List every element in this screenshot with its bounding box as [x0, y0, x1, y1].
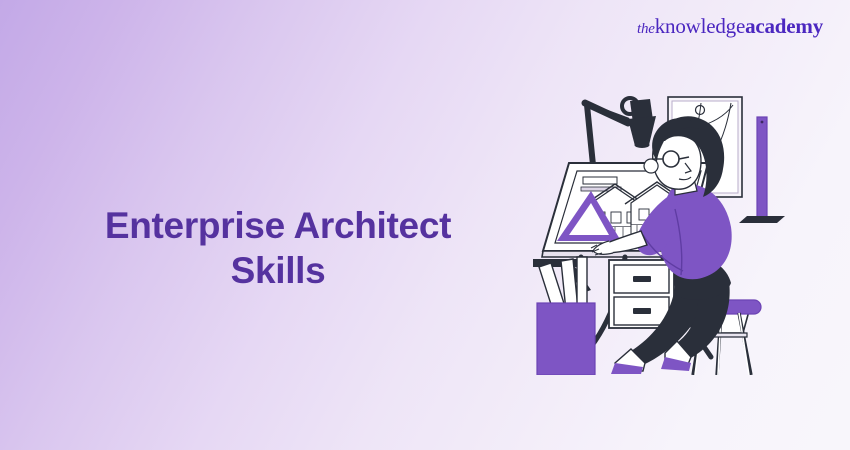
- purple-ruler-icon: [739, 117, 785, 223]
- brand-logo[interactable]: theknowledgeacademy: [637, 16, 823, 37]
- page-title-line-1: Enterprise Architect: [105, 205, 451, 246]
- architect-illustration: [525, 75, 825, 375]
- person-architect-icon: [591, 116, 732, 374]
- brand-logo-academy: academy: [745, 14, 823, 38]
- brand-logo-the: the: [637, 21, 655, 37]
- page-title-line-2: Skills: [48, 248, 508, 293]
- plans-bin-icon: [537, 257, 595, 375]
- page-title: Enterprise Architect Skills: [48, 203, 508, 293]
- brand-logo-knowledge: knowledge: [655, 14, 745, 38]
- banner: theknowledgeacademy Enterprise Architect…: [0, 0, 850, 450]
